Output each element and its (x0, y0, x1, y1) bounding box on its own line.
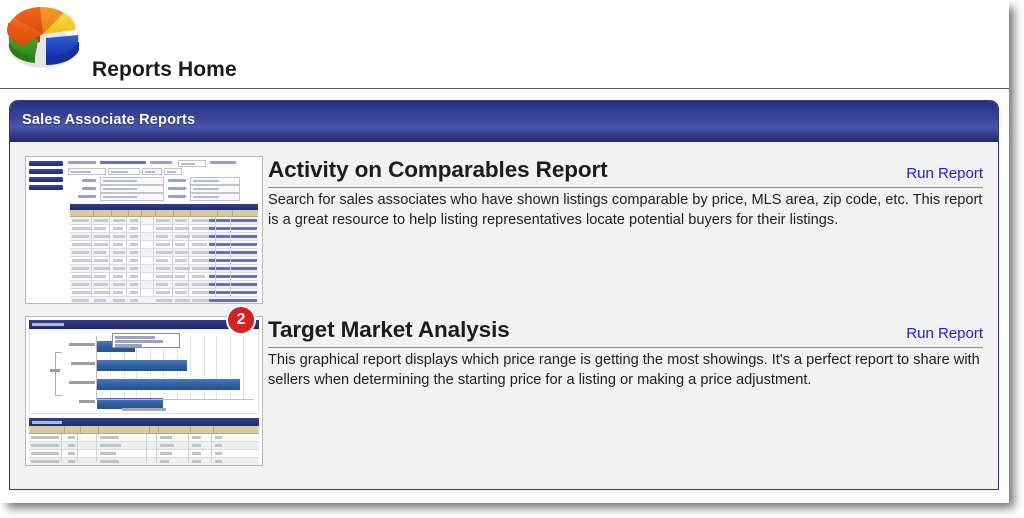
thumbnail-table-rows (70, 217, 258, 297)
report-description: Search for sales associates who have sho… (268, 191, 990, 230)
thumbnail-x-axis-label (122, 408, 166, 411)
report-text-block: Target Market Analysis Run Report This g… (268, 316, 983, 343)
thumbnail-x-axis (96, 399, 254, 400)
thumbnail-table-rows (29, 434, 259, 462)
report-description: This graphical report displays which pri… (268, 351, 990, 390)
step-badge: 2 (226, 305, 256, 335)
thumbnail-axis-bracket (55, 352, 62, 396)
report-title: Activity on Comparables Report (268, 156, 608, 183)
thumbnail-tooltip (112, 333, 180, 348)
header-divider (0, 88, 1009, 89)
thumbnail-bar (97, 379, 240, 390)
panel-title: Sales Associate Reports (22, 112, 195, 128)
report-text-block: Activity on Comparables Report Run Repor… (268, 156, 983, 183)
report-title: Target Market Analysis (268, 316, 510, 343)
thumbnail-sidebar (29, 161, 63, 193)
panel-header: Sales Associate Reports (10, 101, 998, 142)
title-divider (268, 187, 983, 188)
page-title: Reports Home (92, 58, 237, 82)
table-report-thumbnail[interactable] (25, 156, 263, 304)
sales-associate-reports-panel: Sales Associate Reports (9, 100, 999, 490)
thumbnail-bar-chart (29, 329, 259, 414)
run-report-link[interactable]: Run Report (906, 325, 983, 342)
thumbnail-column-header (70, 210, 258, 217)
thumbnail-table-header (29, 418, 259, 426)
thumbnail-search-form (68, 160, 259, 200)
thumbnail-chart-header (29, 320, 259, 329)
application-window: Reports Home Sales Associate Reports (0, 0, 1009, 503)
thumbnail-column-header (29, 426, 259, 434)
run-report-link[interactable]: Run Report (906, 165, 983, 182)
title-divider (268, 347, 983, 348)
page-header: Reports Home (0, 0, 1009, 88)
panel-body: Activity on Comparables Report Run Repor… (10, 142, 998, 489)
thumbnail-bar (97, 360, 186, 371)
pie-chart-icon (2, 2, 86, 76)
bar-chart-report-thumbnail[interactable] (25, 316, 263, 466)
